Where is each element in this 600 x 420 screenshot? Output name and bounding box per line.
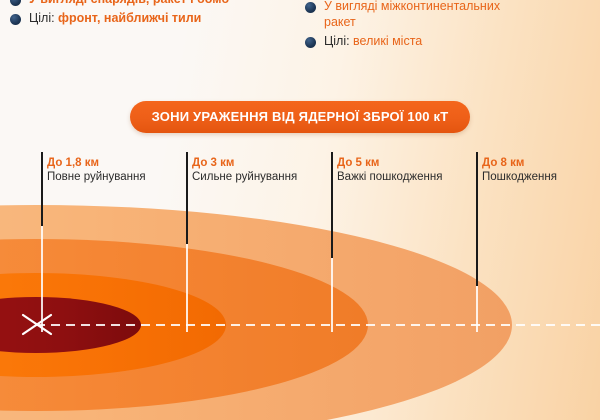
navy-dot-icon — [305, 37, 316, 48]
navy-dot-icon — [305, 2, 316, 13]
note-text: У вигляді снарядів, ракет і бомб — [29, 0, 229, 7]
zone-damage-3km: Сильне руйнування — [192, 170, 297, 185]
zone-damage-5km: Важкі пошкодження — [337, 170, 442, 185]
note-highlight: великі міста — [353, 34, 422, 48]
banner-container: ЗОНИ УРАЖЕННЯ ВІД ЯДЕРНОЇ ЗБРОЇ 100 кТ — [0, 101, 600, 133]
note-text: Цілі: великі міста — [324, 33, 422, 49]
zone-damage-8km: Пошкодження — [482, 170, 557, 185]
note-prefix: Цілі: — [324, 34, 353, 48]
note-highlight: фронт, найближчі тили — [58, 11, 201, 25]
infographic-title-banner: ЗОНИ УРАЖЕННЯ ВІД ЯДЕРНОЇ ЗБРОЇ 100 кТ — [130, 101, 471, 133]
zone-label-8km: До 8 км Пошкодження — [482, 156, 557, 185]
epicentre-cross-icon — [23, 315, 51, 334]
zone-label-1-8km: До 1,8 км Повне руйнування — [47, 156, 146, 185]
zone-distance-1-8km: До 1,8 км — [47, 156, 146, 170]
note-text: Цілі: фронт, найближчі тили — [29, 10, 201, 26]
notes-right-column: У вигляді міжконтинентальних ракет Цілі:… — [305, 0, 595, 52]
zone-distance-8km: До 8 км — [482, 156, 557, 170]
nuclear-blast-zones-infographic: До 1,8 км Повне руйнування До 3 км Сильн… — [0, 0, 600, 420]
note-prefix: Цілі: — [29, 11, 58, 25]
epicentre-overlay — [0, 0, 600, 420]
zone-label-5km: До 5 км Важкі пошкодження — [337, 156, 442, 185]
notes-left-column: У вигляді снарядів, ракет і бомб Цілі: ф… — [10, 0, 300, 29]
note-item: Цілі: фронт, найближчі тили — [10, 10, 300, 26]
navy-dot-icon — [10, 14, 21, 25]
note-highlight: У вигляді снарядів, ракет і бомб — [29, 0, 229, 6]
navy-dot-icon — [10, 0, 21, 6]
note-item: У вигляді міжконтинентальних ракет — [305, 0, 595, 30]
note-highlight: У вигляді міжконтинентальних ракет — [324, 0, 500, 29]
note-item: Цілі: великі міста — [305, 33, 595, 49]
zone-distance-5km: До 5 км — [337, 156, 442, 170]
zone-distance-3km: До 3 км — [192, 156, 297, 170]
zone-label-3km: До 3 км Сильне руйнування — [192, 156, 297, 185]
zone-damage-1-8km: Повне руйнування — [47, 170, 146, 185]
note-item: У вигляді снарядів, ракет і бомб — [10, 0, 300, 7]
note-text: У вигляді міжконтинентальних ракет — [324, 0, 500, 30]
